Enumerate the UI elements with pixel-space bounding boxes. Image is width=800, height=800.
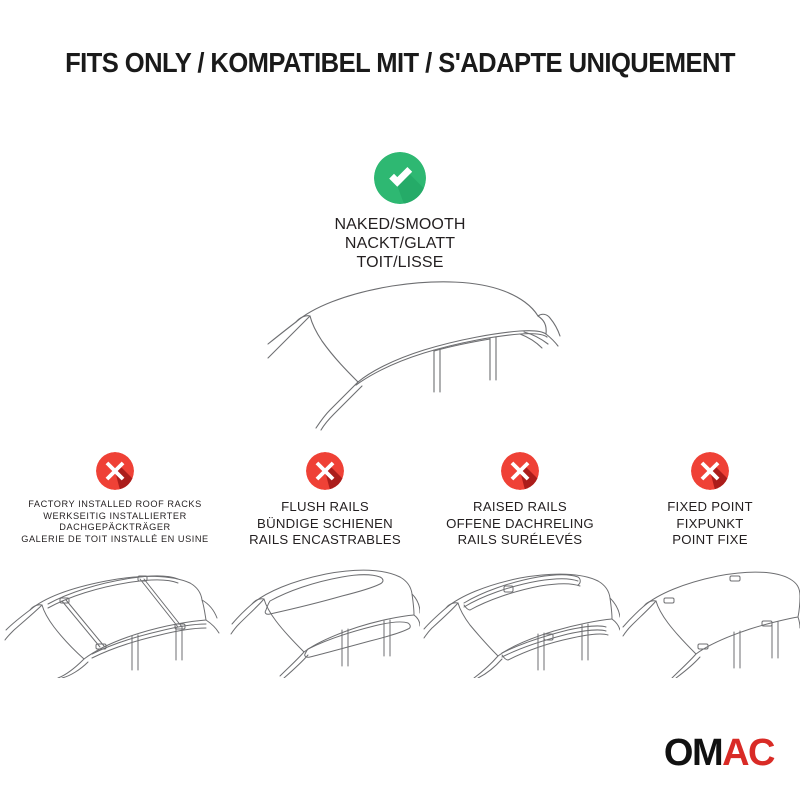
car-roof-factory-roof-racks-illustration bbox=[0, 548, 230, 678]
label-line-2: FIXPUNKT bbox=[620, 516, 800, 533]
omac-logo: OM AC bbox=[664, 734, 774, 772]
red-cross-circle-icon bbox=[691, 452, 729, 490]
red-cross-circle-icon bbox=[96, 452, 134, 490]
page-title: FITS ONLY / KOMPATIBEL MIT / S'ADAPTE UN… bbox=[28, 46, 772, 80]
label-line-2: WERKSEITIG INSTALLIERTER bbox=[0, 511, 230, 523]
car-roof-fixed-point-illustration bbox=[620, 548, 800, 678]
compatible-label-en: NAKED/SMOOTH bbox=[0, 215, 800, 234]
compatible-roof-type-labels: NAKED/SMOOTH NACKT/GLATT TOIT/LISSE bbox=[0, 215, 800, 272]
incompatible-item-factory-roof-racks: FACTORY INSTALLED ROOF RACKS WERKSEITIG … bbox=[0, 452, 230, 712]
red-cross-circle-icon bbox=[306, 452, 344, 490]
car-roof-naked-smooth-illustration bbox=[252, 272, 572, 432]
incompatible-labels: FACTORY INSTALLED ROOF RACKS WERKSEITIG … bbox=[0, 499, 230, 545]
compatible-label-fr: TOIT/LISSE bbox=[0, 253, 800, 272]
compatible-label-de: NACKT/GLATT bbox=[0, 234, 800, 253]
header: FITS ONLY / KOMPATIBEL MIT / S'ADAPTE UN… bbox=[0, 46, 800, 80]
label-line-3: DACHGEPÄCKTRÄGER bbox=[0, 522, 230, 534]
label-line-3: POINT FIXE bbox=[620, 532, 800, 549]
car-roof-raised-rails-illustration bbox=[420, 548, 620, 678]
omac-logo-om: OM bbox=[664, 734, 722, 772]
label-line-1: RAISED RAILS bbox=[420, 499, 620, 516]
incompatible-item-flush-rails: FLUSH RAILS BÜNDIGE SCHIENEN RAILS ENCAS… bbox=[230, 452, 420, 712]
compatible-roof-type-block: NAKED/SMOOTH NACKT/GLATT TOIT/LISSE bbox=[0, 152, 800, 272]
red-cross-circle-icon bbox=[501, 452, 539, 490]
label-line-2: OFFENE DACHRELING bbox=[420, 516, 620, 533]
label-line-3: RAILS SURÉLEVÉS bbox=[420, 532, 620, 549]
incompatible-labels: FIXED POINT FIXPUNKT POINT FIXE bbox=[620, 499, 800, 549]
incompatible-item-fixed-point: FIXED POINT FIXPUNKT POINT FIXE bbox=[620, 452, 800, 712]
omac-logo-ac: AC bbox=[722, 734, 774, 772]
green-check-circle-icon bbox=[374, 152, 426, 204]
incompatible-item-raised-rails: RAISED RAILS OFFENE DACHRELING RAILS SUR… bbox=[420, 452, 620, 712]
car-roof-flush-rails-illustration bbox=[230, 548, 420, 678]
incompatible-labels: FLUSH RAILS BÜNDIGE SCHIENEN RAILS ENCAS… bbox=[230, 499, 420, 549]
incompatible-roof-types-row: FACTORY INSTALLED ROOF RACKS WERKSEITIG … bbox=[0, 452, 800, 712]
fitment-compatibility-infographic: { "header": { "title": "FITS ONLY / KOMP… bbox=[0, 0, 800, 800]
label-line-1: FACTORY INSTALLED ROOF RACKS bbox=[0, 499, 230, 511]
label-line-4: GALERIE DE TOIT INSTALLÉ EN USINE bbox=[0, 534, 230, 546]
label-line-3: RAILS ENCASTRABLES bbox=[230, 532, 420, 549]
label-line-2: BÜNDIGE SCHIENEN bbox=[230, 516, 420, 533]
label-line-1: FLUSH RAILS bbox=[230, 499, 420, 516]
label-line-1: FIXED POINT bbox=[620, 499, 800, 516]
incompatible-labels: RAISED RAILS OFFENE DACHRELING RAILS SUR… bbox=[420, 499, 620, 549]
